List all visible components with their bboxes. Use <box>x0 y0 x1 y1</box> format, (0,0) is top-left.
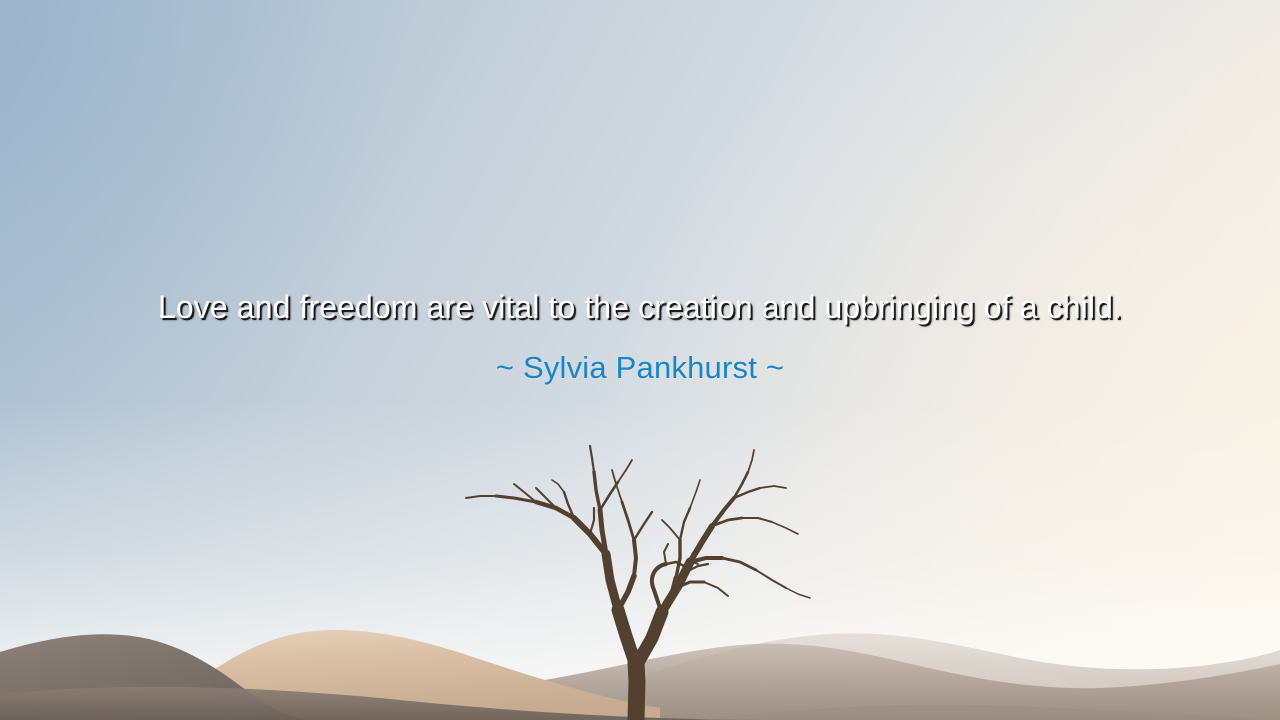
quote-text: Love and freedom are vital to the creati… <box>40 286 1240 329</box>
dead-tree <box>440 430 840 720</box>
quote-block: Love and freedom are vital to the creati… <box>0 286 1280 387</box>
quote-author: ~ Sylvia Pankhurst ~ <box>40 349 1240 387</box>
quote-image-scene: Love and freedom are vital to the creati… <box>0 0 1280 720</box>
